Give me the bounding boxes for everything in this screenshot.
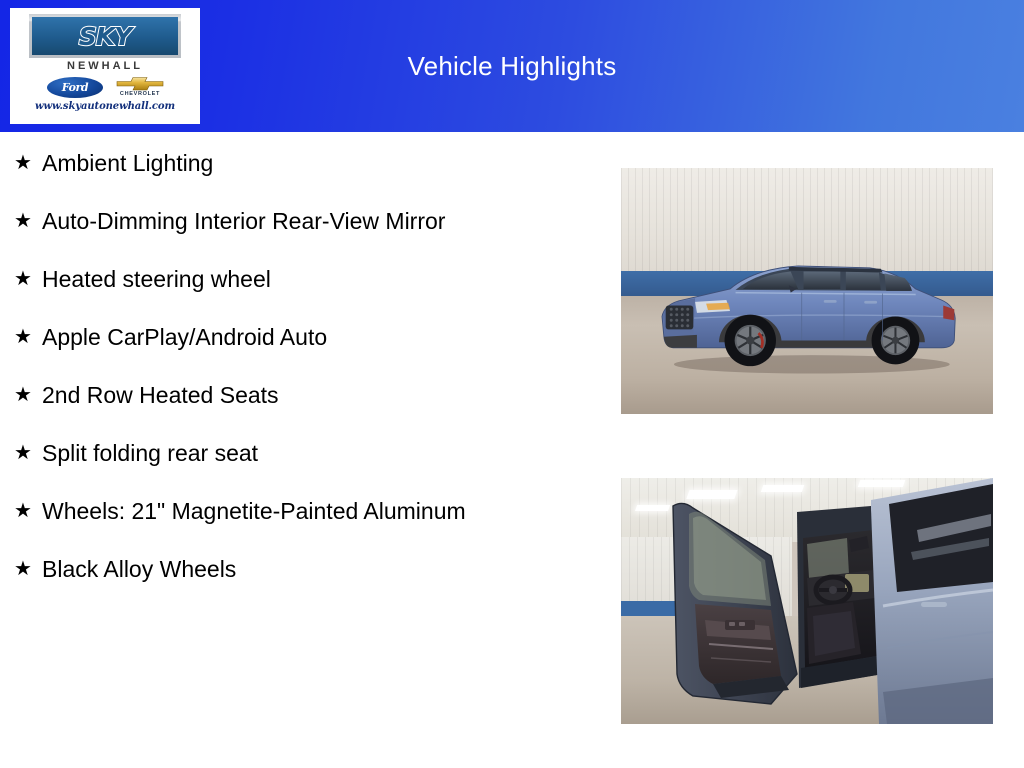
chevrolet-logo-block: CHEVROLET bbox=[116, 76, 164, 98]
highlight-label: Ambient Lighting bbox=[42, 146, 502, 180]
ford-logo-icon: Ford bbox=[46, 76, 104, 99]
star-bullet-icon: ★ bbox=[12, 320, 42, 354]
list-item: ★ Apple CarPlay/Android Auto bbox=[12, 320, 532, 354]
list-item: ★ Split folding rear seat bbox=[12, 436, 532, 470]
star-bullet-icon: ★ bbox=[12, 262, 42, 296]
list-item: ★ Ambient Lighting bbox=[12, 146, 532, 180]
vehicle-highlights-list: ★ Ambient Lighting ★ Auto-Dimming Interi… bbox=[12, 146, 532, 610]
sky-wordmark: SKY bbox=[79, 24, 131, 49]
ford-wordmark: Ford bbox=[62, 82, 88, 93]
vehicle-exterior-photo[interactable] bbox=[621, 168, 993, 414]
interior-scene bbox=[621, 478, 993, 724]
list-item: ★ Black Alloy Wheels bbox=[12, 552, 532, 586]
highlight-label: Apple CarPlay/Android Auto bbox=[42, 320, 502, 354]
vehicle-door-and-cabin bbox=[621, 478, 993, 724]
list-item: ★ Wheels: 21" Magnetite-Painted Aluminum bbox=[12, 494, 532, 528]
highlight-label: Black Alloy Wheels bbox=[42, 552, 502, 586]
highlight-label: Heated steering wheel bbox=[42, 262, 502, 296]
star-bullet-icon: ★ bbox=[12, 494, 42, 528]
franchise-logos-row: Ford CHEVROLET bbox=[46, 75, 164, 99]
star-bullet-icon: ★ bbox=[12, 204, 42, 238]
star-bullet-icon: ★ bbox=[12, 436, 42, 470]
star-bullet-icon: ★ bbox=[12, 378, 42, 412]
list-item: ★ 2nd Row Heated Seats bbox=[12, 378, 532, 412]
highlight-label: Auto-Dimming Interior Rear-View Mirror bbox=[42, 204, 502, 238]
sky-badge-inner: SKY bbox=[32, 17, 178, 55]
sky-badge: SKY bbox=[29, 14, 181, 58]
vehicle-interior-photo[interactable] bbox=[621, 478, 993, 724]
star-bullet-icon: ★ bbox=[12, 146, 42, 180]
list-item: ★ Heated steering wheel bbox=[12, 262, 532, 296]
logo-location-label: NEWHALL bbox=[67, 61, 143, 72]
highlight-label: Wheels: 21" Magnetite-Painted Aluminum bbox=[42, 494, 502, 528]
highlight-label: Split folding rear seat bbox=[42, 436, 502, 470]
chevrolet-bowtie-icon bbox=[116, 76, 164, 91]
dealer-logo[interactable]: SKY NEWHALL Ford CHEVR bbox=[10, 8, 200, 124]
chevrolet-wordmark: CHEVROLET bbox=[120, 92, 160, 98]
star-bullet-icon: ★ bbox=[12, 552, 42, 586]
dealer-website-url[interactable]: www.skyautonewhall.com bbox=[35, 102, 175, 112]
exterior-scene bbox=[621, 168, 993, 414]
list-item: ★ Auto-Dimming Interior Rear-View Mirror bbox=[12, 204, 532, 238]
suv-illustration bbox=[651, 244, 963, 382]
highlight-label: 2nd Row Heated Seats bbox=[42, 378, 502, 412]
